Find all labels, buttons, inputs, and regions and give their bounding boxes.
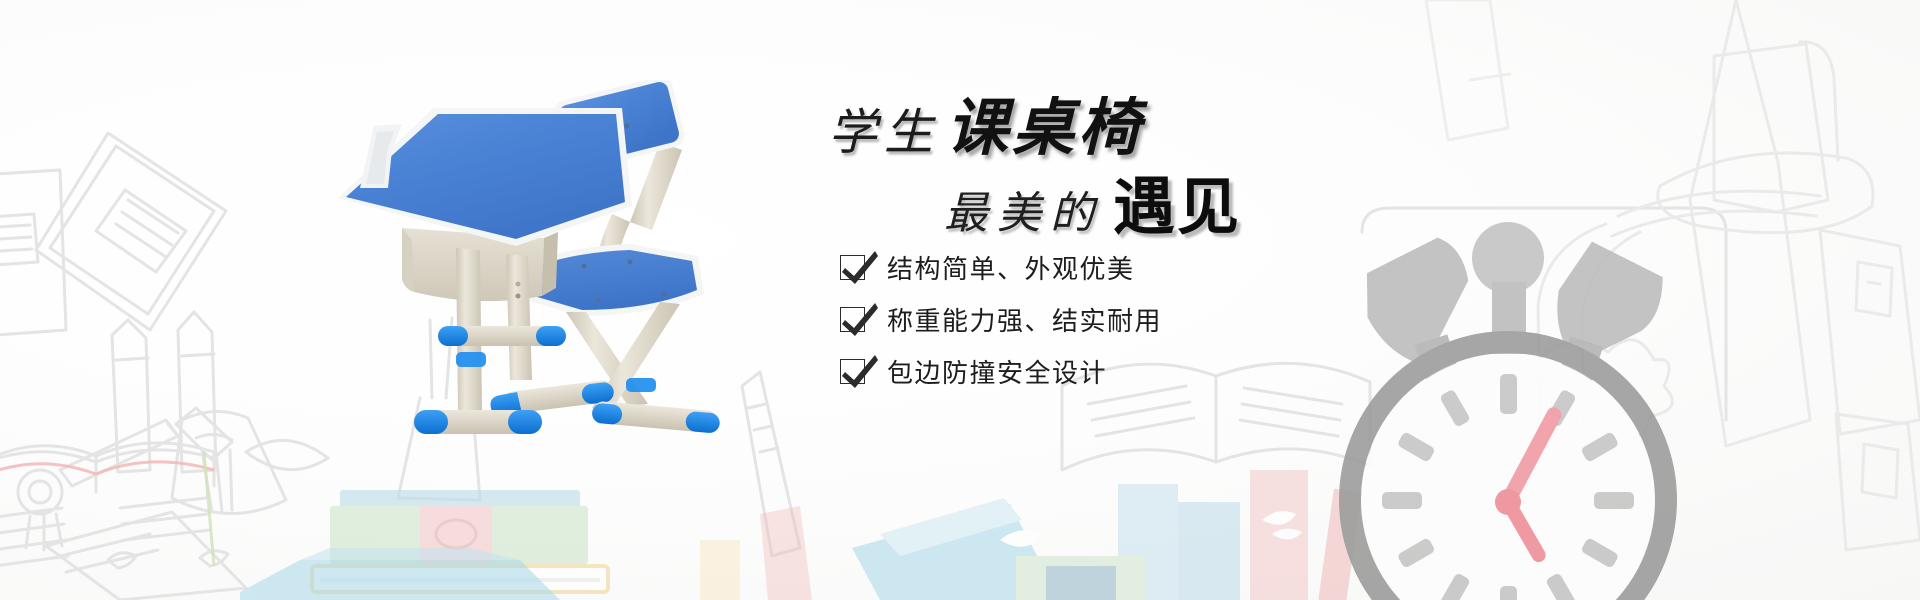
headline-line-2: 最美的遇见 [944, 176, 1241, 238]
chair-foot-right [591, 401, 720, 434]
feature-item: 结构简单、外观优美 [840, 252, 1162, 282]
feature-label: 包边防撞安全设计 [887, 353, 1107, 390]
checkbox-checked-icon [840, 359, 865, 384]
headline-line-1: 学生课桌椅 [828, 98, 1144, 160]
headline-line2-emphasis: 遇见 [1113, 170, 1241, 243]
promo-banner: 学生课桌椅 最美的遇见 结构简单、外观优美 称重能力强 [0, 0, 1920, 600]
feature-item: 包边防撞安全设计 [840, 356, 1162, 386]
checkbox-checked-icon [840, 255, 865, 280]
feature-label: 称重能力强、结实耐用 [887, 301, 1162, 338]
headline-line2-plain: 最美的 [944, 189, 1103, 238]
headline-line1-emphasis: 课桌椅 [946, 95, 1144, 163]
headline-line1-plain: 学生 [828, 105, 940, 160]
product-image [330, 80, 810, 480]
feature-list: 结构简单、外观优美 称重能力强、结实耐用 包边防撞安全设计 [840, 252, 1162, 408]
feature-label: 结构简单、外观优美 [887, 249, 1135, 286]
feature-item: 称重能力强、结实耐用 [840, 304, 1162, 334]
desk-foot [414, 410, 542, 434]
desk-top [338, 108, 632, 246]
checkbox-checked-icon [840, 307, 865, 332]
headline-block: 学生课桌椅 最美的遇见 结构简单、外观优美 称重能力强 [828, 92, 1468, 512]
book-page-edge [0, 462, 214, 482]
